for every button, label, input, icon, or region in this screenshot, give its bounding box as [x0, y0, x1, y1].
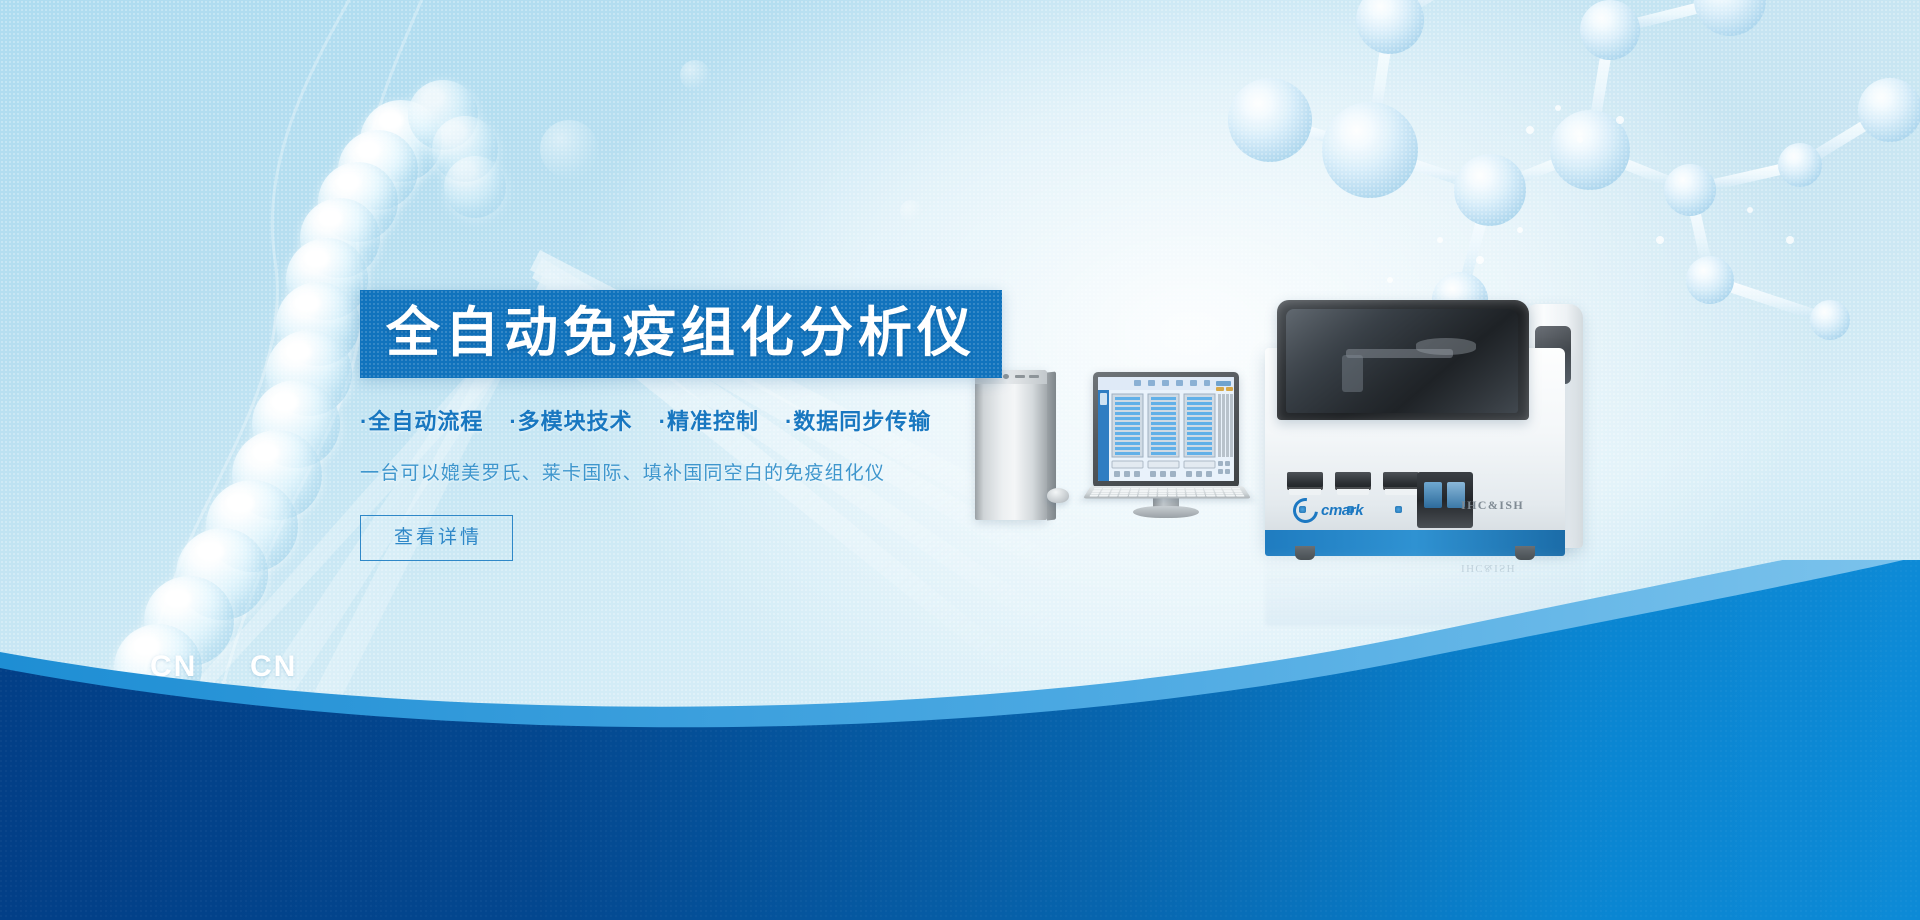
reagent-drawer-1: [1287, 472, 1323, 490]
feature-item-1: ·全自动流程: [360, 404, 483, 436]
analyzer-glass-door: [1286, 309, 1518, 413]
brand-logo: cmark: [1293, 498, 1363, 523]
brand-logo-text: cmark: [1321, 502, 1363, 519]
keyboard: [1083, 486, 1251, 498]
hero-banner: CN CN: [0, 0, 1920, 920]
monitor-screen: [1098, 377, 1234, 481]
title-band: 全自动免疫组化分析仪: [360, 290, 1002, 378]
feature-list: ·全自动流程·多模块技术·精准控制·数据同步传输: [360, 404, 1060, 436]
lcd-monitor: [1093, 372, 1239, 488]
view-details-button[interactable]: 查看详情: [360, 515, 513, 561]
brand-logo-mark: [1288, 493, 1323, 528]
feature-item-2: ·多模块技术: [509, 404, 632, 436]
banner-description: 一台可以媲美罗氏、莱卡国际、填补国同空白的免疫组化仪: [360, 458, 1060, 485]
analyzer-hood: [1277, 300, 1529, 420]
feature-item-3: ·精准控制: [659, 404, 759, 436]
model-label: IHC&ISH: [1461, 498, 1524, 513]
page-title: 全自动免疫组化分析仪: [386, 306, 976, 360]
bottom-wave: [0, 560, 1920, 920]
bokeh-3: [680, 60, 710, 90]
feature-item-4: ·数据同步传输: [785, 404, 931, 436]
banner-copy: 全自动免疫组化分析仪 ·全自动流程·多模块技术·精准控制·数据同步传输 一台可以…: [360, 290, 1060, 561]
status-led-3: [1395, 506, 1402, 513]
bokeh-1: [540, 120, 598, 178]
reagent-drawer-3: [1383, 472, 1419, 490]
immunohistochemistry-analyzer: cmark IHC&ISH IHC&ISH: [1265, 300, 1595, 590]
bokeh-4: [900, 200, 922, 222]
reagent-drawer-2: [1335, 472, 1371, 490]
monitor-stand-base: [1133, 506, 1199, 518]
